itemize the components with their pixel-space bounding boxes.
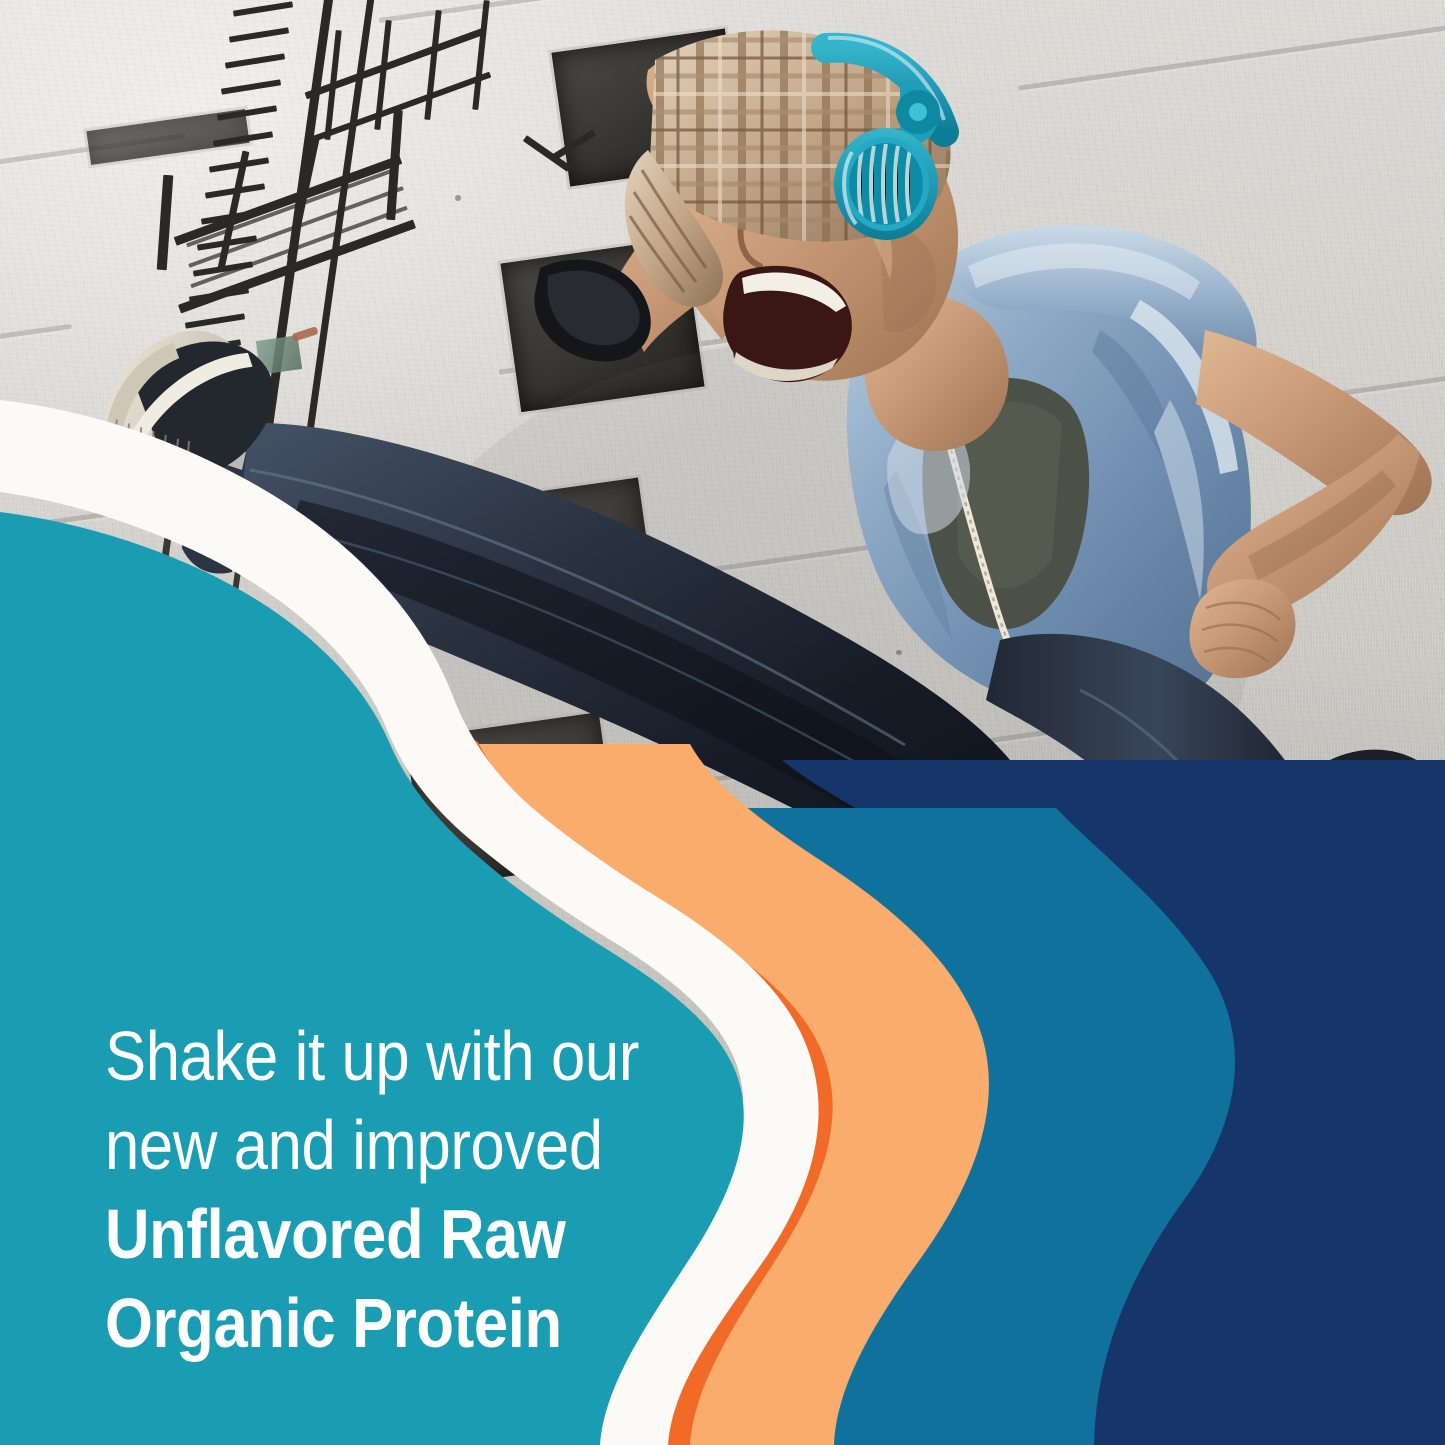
- headline-line-1: Shake it up with our: [105, 1012, 703, 1101]
- banner-image: Shake it up with our new and improved Un…: [0, 0, 1445, 1445]
- headline-line-3: Unflavored Raw: [105, 1190, 703, 1279]
- headline-line-4: Organic Protein: [105, 1279, 703, 1368]
- headline-line-2: new and improved: [105, 1101, 703, 1190]
- headline-block: Shake it up with our new and improved Un…: [105, 1012, 785, 1368]
